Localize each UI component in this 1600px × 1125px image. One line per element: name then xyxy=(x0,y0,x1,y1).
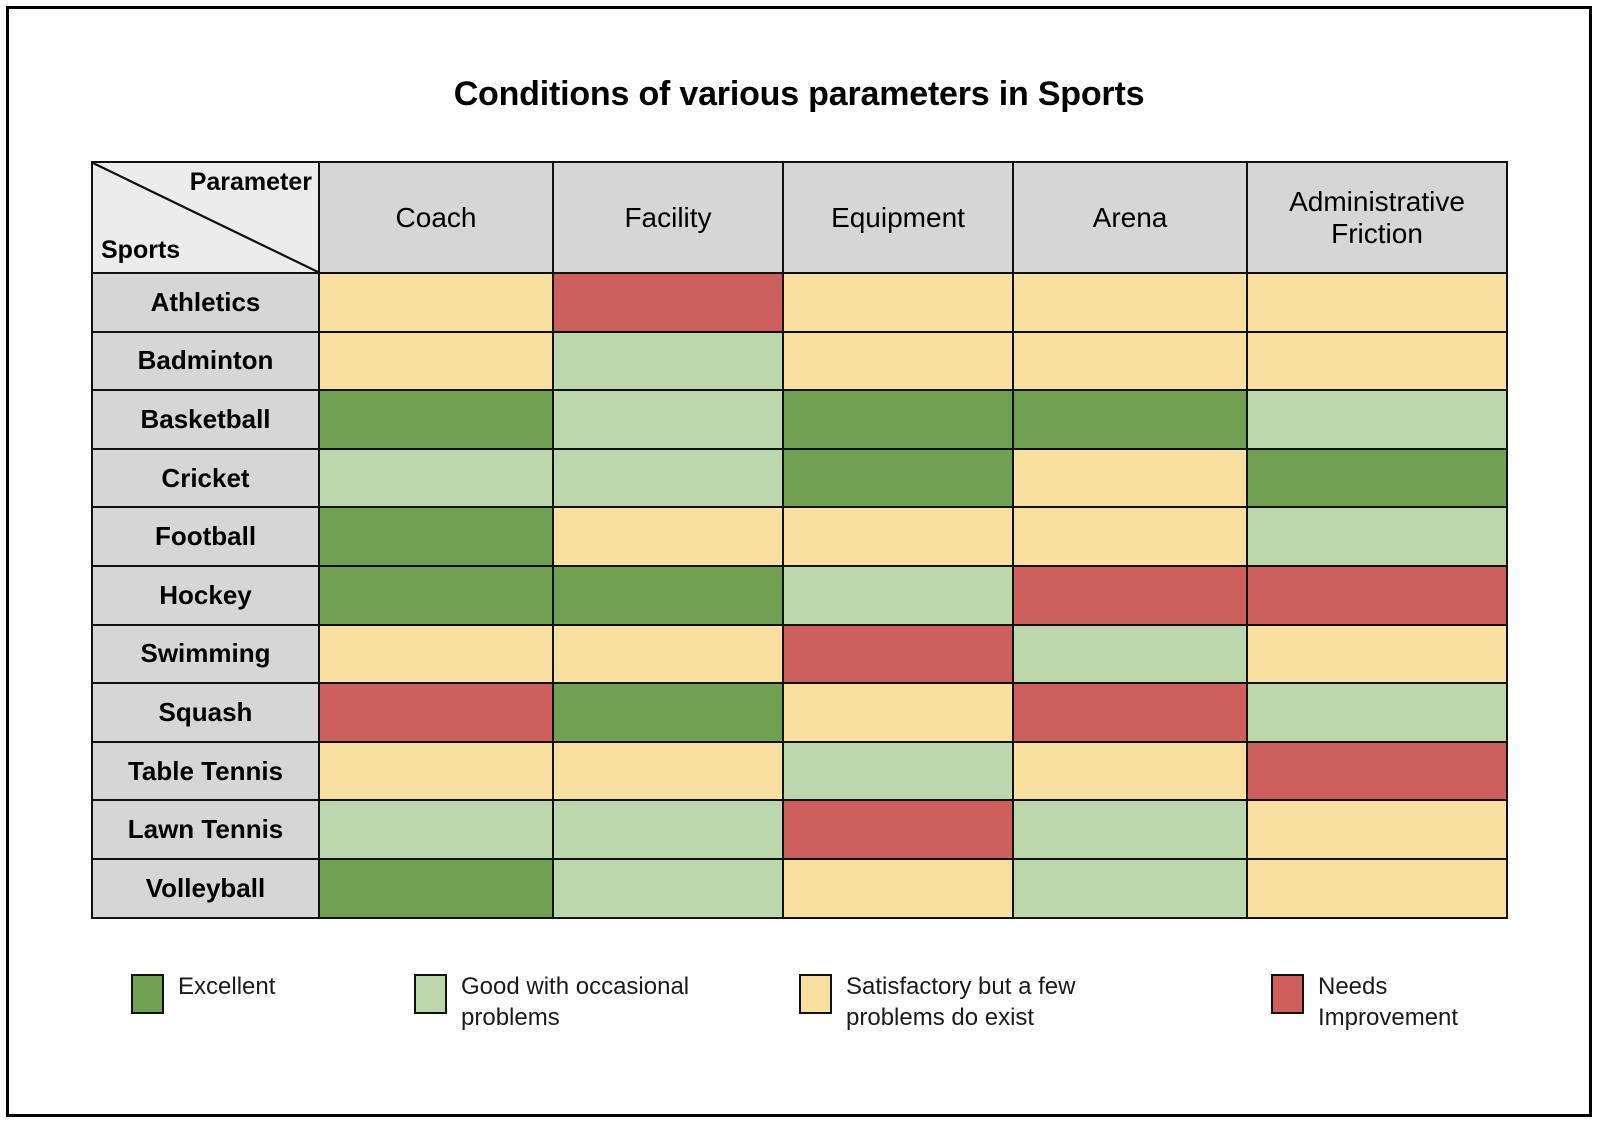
cell-basketball-equipment xyxy=(783,390,1013,449)
row-header-athletics: Athletics xyxy=(92,273,319,332)
row-header-cricket: Cricket xyxy=(92,449,319,508)
cell-football-equipment xyxy=(783,507,1013,566)
cell-badminton-equipment xyxy=(783,332,1013,391)
page-title: Conditions of various parameters in Spor… xyxy=(9,75,1589,114)
matrix-row: Badminton xyxy=(92,332,1507,391)
cell-badminton-administrative-friction xyxy=(1247,332,1507,391)
cell-swimming-administrative-friction xyxy=(1247,625,1507,684)
cell-lawn-tennis-facility xyxy=(553,800,783,859)
column-header-facility: Facility xyxy=(553,162,783,273)
row-header-volleyball: Volleyball xyxy=(92,859,319,918)
cell-hockey-facility xyxy=(553,566,783,625)
cell-hockey-administrative-friction xyxy=(1247,566,1507,625)
cell-squash-arena xyxy=(1013,683,1247,742)
cell-swimming-arena xyxy=(1013,625,1247,684)
cell-football-coach xyxy=(319,507,553,566)
matrix-header-row: Parameter Sports Coach Facility Equipmen… xyxy=(92,162,1507,273)
cell-hockey-coach xyxy=(319,566,553,625)
matrix-row: Lawn Tennis xyxy=(92,800,1507,859)
legend: Excellent Good with occasional problems … xyxy=(9,964,1589,1074)
legend-swatch-satisfactory xyxy=(799,974,832,1014)
matrix-row: Squash xyxy=(92,683,1507,742)
cell-squash-administrative-friction xyxy=(1247,683,1507,742)
cell-swimming-coach xyxy=(319,625,553,684)
cell-cricket-coach xyxy=(319,449,553,508)
row-header-hockey: Hockey xyxy=(92,566,319,625)
row-header-lawn-tennis: Lawn Tennis xyxy=(92,800,319,859)
cell-athletics-arena xyxy=(1013,273,1247,332)
cell-football-arena xyxy=(1013,507,1247,566)
legend-item-satisfactory: Satisfactory but a few problems do exist xyxy=(799,972,1129,1033)
matrix-row: Basketball xyxy=(92,390,1507,449)
cell-squash-coach xyxy=(319,683,553,742)
column-header-administrative-friction: Administrative Friction xyxy=(1247,162,1507,273)
matrix-row: Athletics xyxy=(92,273,1507,332)
matrix-row: Hockey xyxy=(92,566,1507,625)
row-header-badminton: Badminton xyxy=(92,332,319,391)
legend-swatch-needs-improvement xyxy=(1271,974,1304,1014)
legend-swatch-excellent xyxy=(131,974,164,1014)
cell-basketball-facility xyxy=(553,390,783,449)
cell-basketball-administrative-friction xyxy=(1247,390,1507,449)
row-header-squash: Squash xyxy=(92,683,319,742)
cell-hockey-equipment xyxy=(783,566,1013,625)
corner-axis-cell: Parameter Sports xyxy=(92,162,319,273)
legend-swatch-good xyxy=(414,974,447,1014)
matrix-row: Swimming xyxy=(92,625,1507,684)
legend-label-needs-improvement: Needs Improvement xyxy=(1318,972,1458,1033)
cell-volleyball-facility xyxy=(553,859,783,918)
cell-athletics-coach xyxy=(319,273,553,332)
cell-squash-equipment xyxy=(783,683,1013,742)
cell-table-tennis-equipment xyxy=(783,742,1013,801)
cell-volleyball-administrative-friction xyxy=(1247,859,1507,918)
cell-table-tennis-coach xyxy=(319,742,553,801)
column-header-equipment: Equipment xyxy=(783,162,1013,273)
legend-label-good: Good with occasional problems xyxy=(461,972,689,1033)
cell-basketball-arena xyxy=(1013,390,1247,449)
legend-item-good: Good with occasional problems xyxy=(414,972,734,1033)
cell-cricket-equipment xyxy=(783,449,1013,508)
matrix-row: Football xyxy=(92,507,1507,566)
cell-squash-facility xyxy=(553,683,783,742)
matrix-row: Volleyball xyxy=(92,859,1507,918)
row-header-swimming: Swimming xyxy=(92,625,319,684)
cell-cricket-administrative-friction xyxy=(1247,449,1507,508)
matrix-row: Cricket xyxy=(92,449,1507,508)
cell-lawn-tennis-administrative-friction xyxy=(1247,800,1507,859)
matrix-body: AthleticsBadmintonBasketballCricketFootb… xyxy=(92,273,1507,918)
figure-canvas: Conditions of various parameters in Spor… xyxy=(6,6,1592,1117)
cell-athletics-facility xyxy=(553,273,783,332)
cell-badminton-facility xyxy=(553,332,783,391)
row-header-basketball: Basketball xyxy=(92,390,319,449)
cell-volleyball-equipment xyxy=(783,859,1013,918)
cell-volleyball-arena xyxy=(1013,859,1247,918)
column-header-coach: Coach xyxy=(319,162,553,273)
cell-athletics-administrative-friction xyxy=(1247,273,1507,332)
cell-basketball-coach xyxy=(319,390,553,449)
row-header-football: Football xyxy=(92,507,319,566)
legend-label-excellent: Excellent xyxy=(178,972,275,1003)
matrix-row: Table Tennis xyxy=(92,742,1507,801)
cell-lawn-tennis-arena xyxy=(1013,800,1247,859)
legend-label-satisfactory: Satisfactory but a few problems do exist xyxy=(846,972,1075,1033)
cell-football-facility xyxy=(553,507,783,566)
row-header-table-tennis: Table Tennis xyxy=(92,742,319,801)
cell-badminton-coach xyxy=(319,332,553,391)
conditions-matrix: Parameter Sports Coach Facility Equipmen… xyxy=(91,161,1508,919)
cell-hockey-arena xyxy=(1013,566,1247,625)
cell-lawn-tennis-equipment xyxy=(783,800,1013,859)
cell-lawn-tennis-coach xyxy=(319,800,553,859)
legend-item-excellent: Excellent xyxy=(131,972,391,1014)
cell-volleyball-coach xyxy=(319,859,553,918)
column-header-arena: Arena xyxy=(1013,162,1247,273)
legend-item-needs-improvement: Needs Improvement xyxy=(1271,972,1551,1033)
row-axis-label: Sports xyxy=(101,238,180,263)
cell-swimming-facility xyxy=(553,625,783,684)
cell-cricket-facility xyxy=(553,449,783,508)
matrix-header: Parameter Sports Coach Facility Equipmen… xyxy=(92,162,1507,273)
cell-football-administrative-friction xyxy=(1247,507,1507,566)
cell-table-tennis-arena xyxy=(1013,742,1247,801)
cell-table-tennis-administrative-friction xyxy=(1247,742,1507,801)
cell-swimming-equipment xyxy=(783,625,1013,684)
cell-table-tennis-facility xyxy=(553,742,783,801)
cell-cricket-arena xyxy=(1013,449,1247,508)
cell-badminton-arena xyxy=(1013,332,1247,391)
column-axis-label: Parameter xyxy=(190,170,312,195)
cell-athletics-equipment xyxy=(783,273,1013,332)
